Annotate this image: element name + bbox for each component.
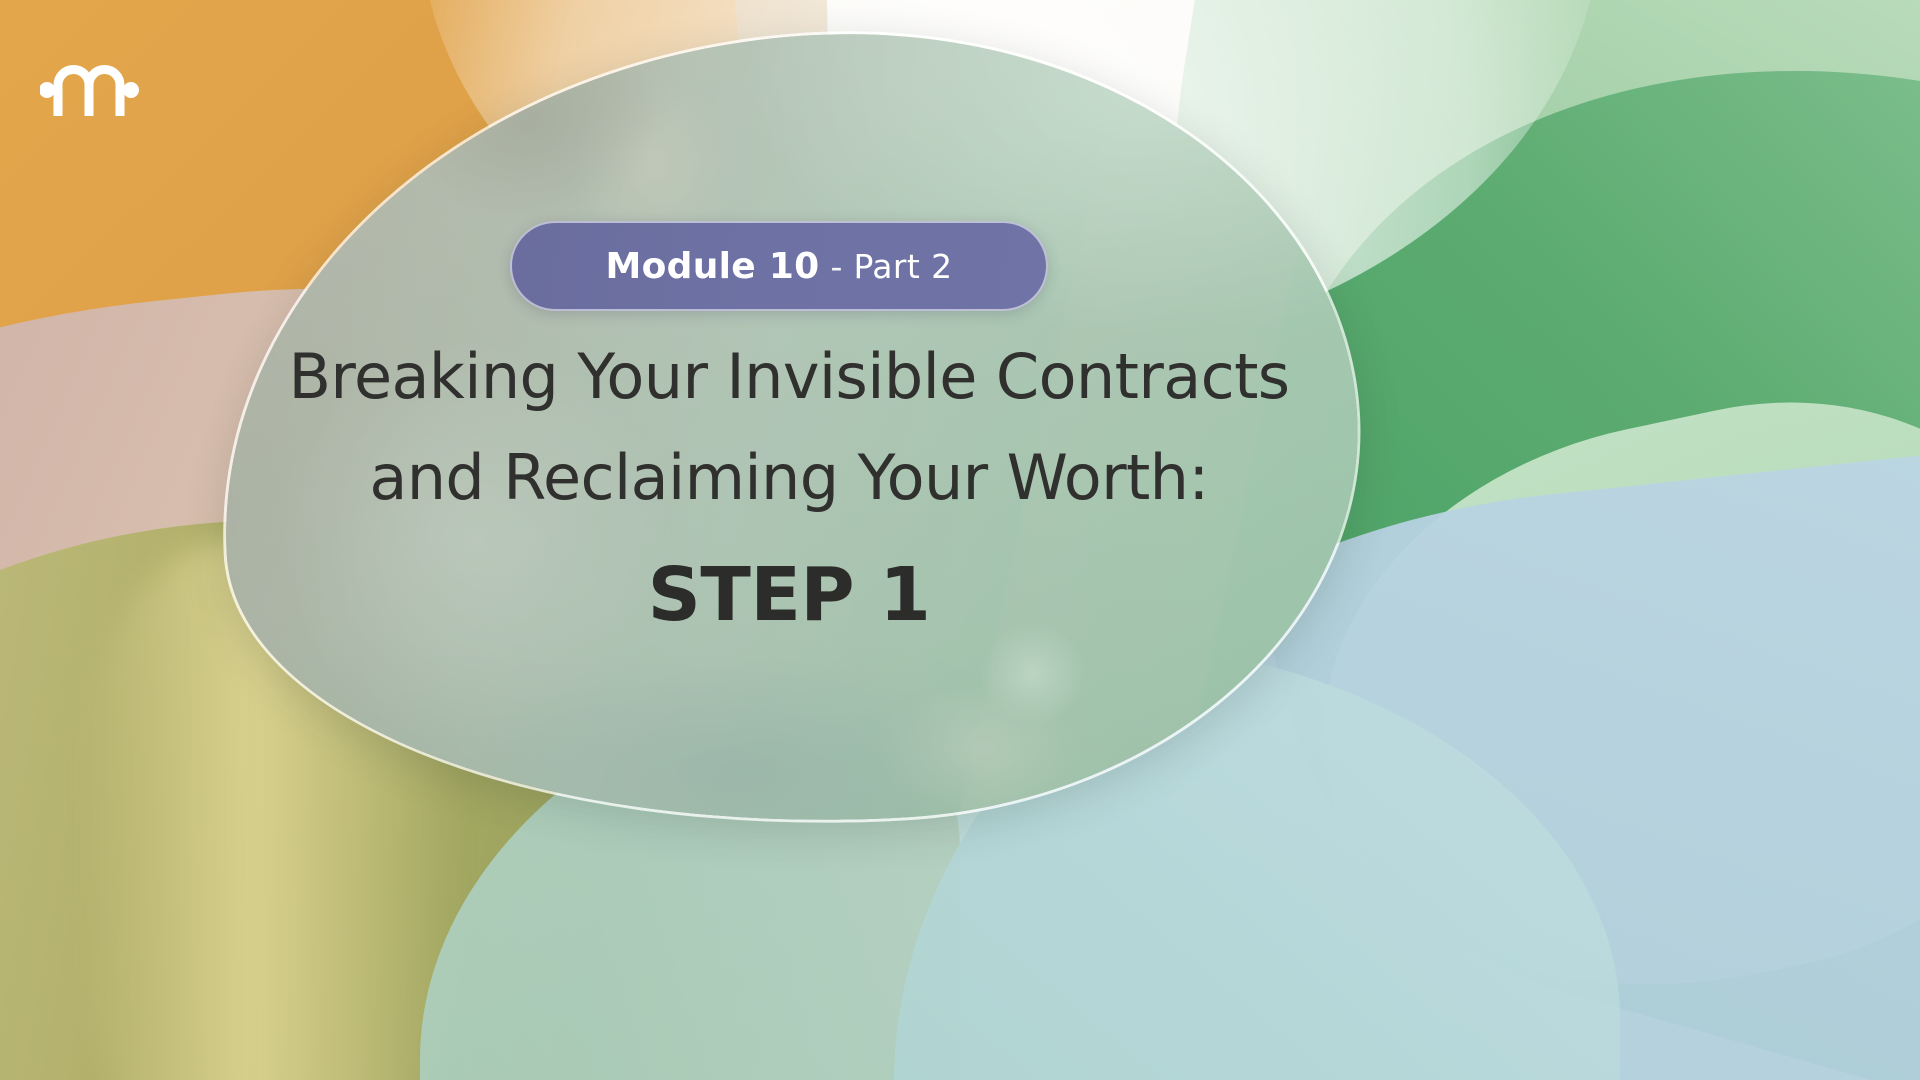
slide-canvas: Module 10 - Part 2 Breaking Your Invisib…	[0, 0, 1920, 1080]
module-badge[interactable]: Module 10 - Part 2	[510, 221, 1048, 311]
brand-logo[interactable]	[40, 52, 158, 118]
logo-dot-left-icon	[40, 82, 55, 98]
monologue-m-logo-icon	[40, 52, 158, 118]
title-step: STEP 1	[218, 552, 1360, 638]
badge-separator: -	[831, 247, 843, 286]
title-block: Breaking Your Invisible Contracts and Re…	[218, 344, 1360, 638]
logo-dot-right-icon	[123, 82, 139, 98]
title-line-2: and Reclaiming Your Worth:	[218, 445, 1360, 512]
title-line-1: Breaking Your Invisible Contracts	[218, 344, 1360, 411]
badge-part-label: Part 2	[853, 247, 952, 286]
badge-module-label: Module 10	[605, 246, 819, 287]
